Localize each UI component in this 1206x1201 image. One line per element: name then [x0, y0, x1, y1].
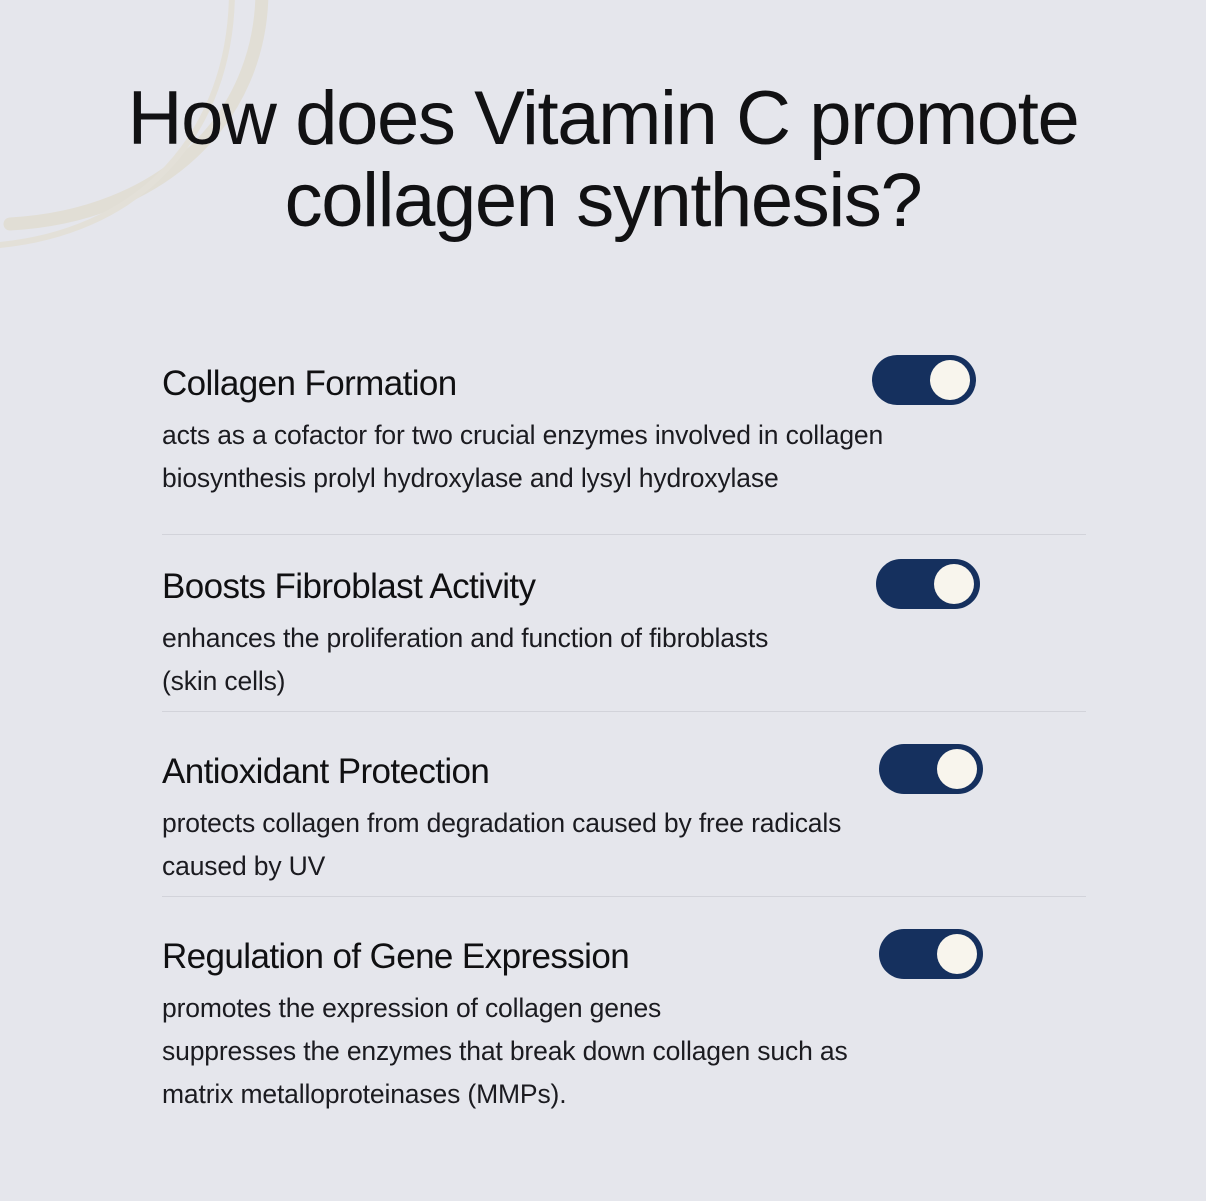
- benefit-header: Collagen Formation: [162, 362, 1088, 414]
- toggle-switch-antioxidant-protection[interactable]: [879, 744, 983, 794]
- benefit-description-line: enhances the proliferation and function …: [162, 617, 1088, 660]
- benefit-description: promotes the expression of collagen gene…: [162, 987, 1088, 1116]
- benefit-title: Regulation of Gene Expression: [162, 935, 629, 979]
- benefit-title: Antioxidant Protection: [162, 750, 489, 794]
- toggle-switch-boosts-fibroblast-activity[interactable]: [876, 559, 980, 609]
- toggle-knob-icon: [930, 360, 970, 400]
- benefit-title: Collagen Formation: [162, 362, 457, 406]
- benefit-description-line: suppresses the enzymes that break down c…: [162, 1030, 1088, 1073]
- benefit-description-line: caused by UV: [162, 845, 1088, 888]
- toggle-knob-icon: [934, 564, 974, 604]
- benefit-title: Boosts Fibroblast Activity: [162, 565, 535, 609]
- benefit-description: protects collagen from degradation cause…: [162, 802, 1088, 888]
- toggle-knob-icon: [937, 749, 977, 789]
- benefit-description: enhances the proliferation and function …: [162, 617, 1088, 703]
- list-divider: [162, 896, 1086, 897]
- infographic-page: How does Vitamin C promote collagen synt…: [0, 0, 1206, 1201]
- benefit-description-line: matrix metalloproteinases (MMPs).: [162, 1073, 1088, 1116]
- toggle-knob-icon: [937, 934, 977, 974]
- list-divider: [162, 711, 1086, 712]
- list-item: Antioxidant Protection protects collagen…: [0, 750, 1206, 888]
- list-item: Regulation of Gene Expression promotes t…: [0, 935, 1206, 1116]
- list-divider: [162, 534, 1086, 535]
- benefit-description-line: acts as a cofactor for two crucial enzym…: [162, 414, 1088, 457]
- benefit-header: Regulation of Gene Expression: [162, 935, 1088, 987]
- page-title-line-1: How does Vitamin C promote: [0, 78, 1206, 160]
- benefit-description-line: biosynthesis prolyl hydroxylase and lysy…: [162, 457, 1088, 500]
- benefit-description-line: (skin cells): [162, 660, 1088, 703]
- benefit-header: Boosts Fibroblast Activity: [162, 565, 1088, 617]
- benefit-header: Antioxidant Protection: [162, 750, 1088, 802]
- toggle-switch-collagen-formation[interactable]: [872, 355, 976, 405]
- toggle-switch-regulation-of-gene-expression[interactable]: [879, 929, 983, 979]
- page-title-line-2: collagen synthesis?: [0, 160, 1206, 242]
- list-item: Collagen Formation acts as a cofactor fo…: [0, 362, 1206, 500]
- page-title: How does Vitamin C promote collagen synt…: [0, 78, 1206, 242]
- benefit-description-line: promotes the expression of collagen gene…: [162, 987, 1088, 1030]
- list-item: Boosts Fibroblast Activity enhances the …: [0, 565, 1206, 703]
- benefit-list: Collagen Formation acts as a cofactor fo…: [0, 362, 1206, 1116]
- benefit-description-line: protects collagen from degradation cause…: [162, 802, 1088, 845]
- benefit-description: acts as a cofactor for two crucial enzym…: [162, 414, 1088, 500]
